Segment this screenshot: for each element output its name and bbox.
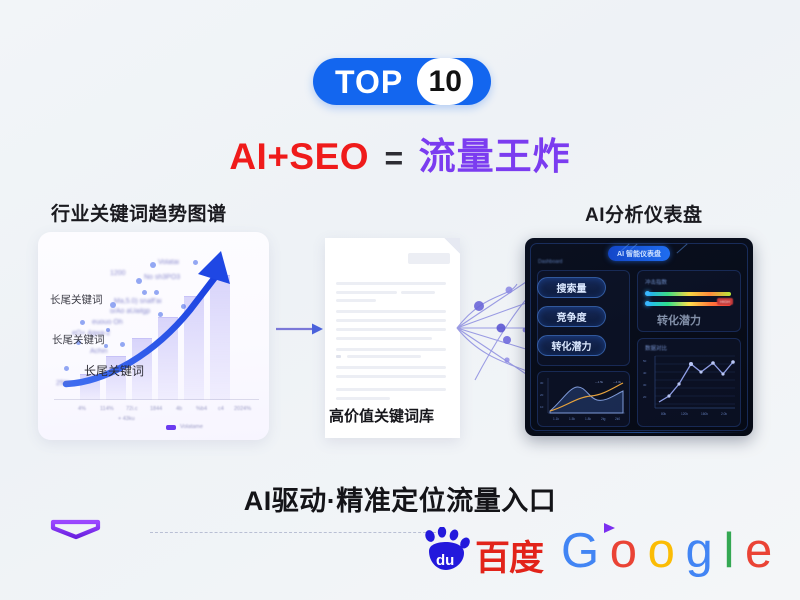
doc-text-line — [401, 291, 435, 294]
scatter-dot — [154, 290, 159, 295]
keyword-label: 长尾关键词 — [84, 362, 144, 379]
x-axis-label: + 43ku — [118, 416, 135, 422]
x-tick: 1844 — [150, 406, 162, 412]
gauge-title: 冲击指数 — [645, 278, 667, 286]
scatter-dot — [136, 278, 142, 284]
blur-tag: No sh3PO3 — [144, 274, 180, 281]
baidu-logo: du 百度 — [420, 527, 543, 575]
bottom-slogan: AI驱动·精准定位流量入口 — [0, 479, 800, 518]
google-letter-o2: o — [648, 524, 674, 578]
blur-tag: 1200 — [110, 270, 126, 277]
svg-text:30: 30 — [540, 381, 544, 385]
svg-text:—4.0k: —4.0k — [613, 380, 622, 384]
blur-tag: euouo Oh — [92, 319, 123, 326]
google-logo: G o o g l e — [561, 529, 771, 573]
flow-arrow-icon — [276, 322, 324, 336]
scatter-dot — [142, 290, 147, 295]
metric-pill-competition[interactable]: 竞争度 — [537, 306, 606, 327]
legend-label: Volatame — [180, 424, 203, 430]
doc-header-chip — [408, 253, 450, 264]
dashboard-glow-line — [531, 432, 747, 433]
trend-chart-card: Volatai No sh3PO3 Ma,5.0) snaff'ai o/Ao … — [38, 232, 269, 440]
doc-text-line — [336, 388, 446, 391]
top-rank-badge: TOP 10 — [313, 58, 491, 105]
metric-pill-search-volume[interactable]: 搜索量 — [537, 277, 606, 298]
gauge-handle[interactable] — [645, 291, 650, 296]
legend-swatch — [166, 425, 176, 430]
svg-text:1.5k: 1.5k — [569, 417, 575, 421]
scatter-dot — [64, 366, 69, 371]
doc-text-line — [336, 282, 446, 285]
google-letter-g2: g — [686, 524, 712, 578]
svg-text:160k: 160k — [701, 412, 708, 416]
gauge-footer-label: 转化潜力 — [657, 312, 701, 328]
gauge-handle[interactable] — [645, 301, 650, 306]
gauge-bar-1 — [647, 292, 731, 296]
scatter-dot — [193, 260, 198, 265]
scatter-dot — [181, 304, 186, 309]
dashboard-app-label: Dashboard — [538, 259, 562, 265]
gauge-tag: HIGH — [717, 298, 733, 305]
keyword-label: 长尾关键词 — [50, 292, 103, 307]
page-title: AI+SEO = 流量王炸 — [0, 126, 800, 180]
doc-text-line — [336, 348, 446, 351]
slide-canvas: TOP 10 AI+SEO = 流量王炸 行业关键词趋势图谱 AI分析仪表盘 — [0, 0, 800, 600]
blur-tag: 25% — [56, 380, 70, 387]
svg-text:120k: 120k — [681, 412, 688, 416]
doc-text-line — [336, 375, 446, 378]
baidu-logo-text: 百度 — [475, 542, 543, 575]
metric-pill-conversion[interactable]: 转化潜力 — [537, 335, 606, 356]
svg-text:30: 30 — [643, 383, 647, 387]
x-tick: 2024% — [234, 406, 251, 412]
svg-text:10: 10 — [540, 405, 544, 409]
svg-text:20: 20 — [540, 393, 544, 397]
doc-text-line — [336, 299, 376, 302]
x-tick: 72i.c — [126, 406, 138, 412]
headline-right: 流量王炸 — [419, 136, 571, 177]
svg-text:1.8k: 1.8k — [585, 417, 591, 421]
x-tick: 4% — [78, 406, 86, 412]
badge-number-circle: 10 — [417, 58, 473, 105]
doc-text-line — [336, 319, 446, 322]
x-tick: c4 — [218, 406, 224, 412]
scatter-dot — [158, 312, 163, 317]
scatter-dot — [80, 320, 85, 325]
svg-text:2k0: 2k0 — [615, 417, 620, 421]
keyword-label: 长尾关键词 — [52, 332, 105, 347]
google-letter-e: e — [745, 524, 771, 578]
scatter-dot — [150, 262, 156, 268]
doc-text-line — [336, 291, 397, 294]
doc-text-line — [336, 337, 432, 340]
svg-text:—1.5k: —1.5k — [595, 380, 604, 384]
page-fold-corner — [444, 238, 460, 254]
baidu-du-text: du — [436, 552, 454, 569]
badge-label: TOP — [335, 66, 403, 98]
blur-tag: Ma,5.0) snaff'ai — [114, 298, 162, 305]
node-network-graphic — [455, 272, 533, 384]
svg-text:2tg: 2tg — [601, 417, 606, 421]
baidu-paw-icon: du — [420, 527, 472, 575]
doc-text-line — [336, 397, 390, 400]
svg-text:50: 50 — [643, 359, 647, 363]
doc-bullet — [336, 355, 341, 358]
play-triangle-icon — [602, 521, 618, 535]
x-tick: 114% — [100, 406, 114, 412]
dashboard-title-badge: AI 智能仪表盘 — [608, 246, 670, 261]
headline-left: AI+SEO — [229, 136, 369, 177]
line-chart: 5040 3020 80k120k 160k2.0k — [641, 350, 739, 422]
doc-text-line — [336, 328, 446, 331]
doc-text-line — [336, 366, 446, 369]
connector-dashed-line — [150, 532, 436, 533]
doc-text-line — [347, 355, 421, 358]
blur-tag: o/Ao aUailgp — [110, 308, 150, 315]
svg-text:80k: 80k — [661, 412, 667, 416]
left-section-caption: 行业关键词趋势图谱 — [51, 199, 227, 226]
doc-text-line — [336, 310, 446, 313]
google-letter-g1: G — [561, 524, 598, 578]
ai-dashboard-card: AI 智能仪表盘 Dashboard 搜索量 竞争度 转化潜力 冲击指数 HIG… — [525, 238, 753, 436]
bar-chart-podium-icon — [46, 487, 108, 543]
badge-number: 10 — [429, 67, 462, 97]
x-tick: 4b — [176, 406, 182, 412]
document-caption: 高价值关键词库 — [329, 405, 434, 426]
svg-text:2.0k: 2.0k — [721, 412, 727, 416]
svg-text:40: 40 — [643, 371, 647, 375]
chart-legend: Volatame — [166, 424, 203, 430]
blur-tag: Volatai — [158, 259, 179, 266]
trend-chart-plot: Volatai No sh3PO3 Ma,5.0) snaff'ai o/Ao … — [38, 232, 269, 440]
area-chart: 1.1k1.5k 1.8k2tg2k0 302010 —1.5k—4.0k — [539, 374, 628, 424]
svg-text:1.1k: 1.1k — [553, 417, 559, 421]
scatter-dot — [120, 342, 125, 347]
x-tick: %b4 — [196, 406, 207, 412]
search-engine-logos: du 百度 G o o g l e — [420, 527, 771, 575]
svg-text:20: 20 — [643, 395, 647, 399]
headline-operator: = — [385, 140, 404, 176]
right-section-caption: AI分析仪表盘 — [585, 200, 703, 227]
blur-tag: Achin — [90, 348, 108, 355]
google-letter-l: l — [723, 524, 732, 578]
